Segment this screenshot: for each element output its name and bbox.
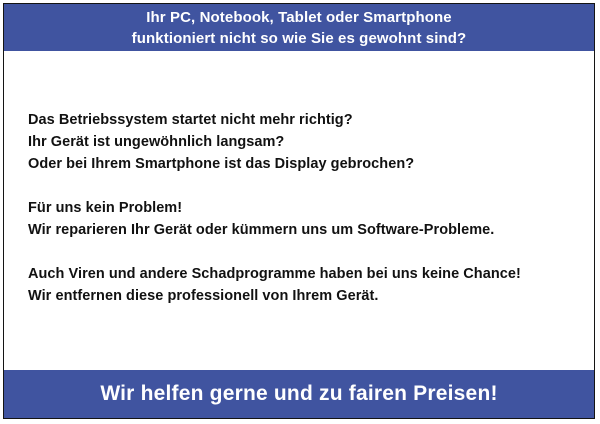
footer-tagline: Wir helfen gerne und zu fairen Preisen! <box>100 381 497 407</box>
service-flyer-card: Ihr PC, Notebook, Tablet oder Smartphone… <box>3 3 595 419</box>
solution-line-2: Wir reparieren Ihr Gerät oder kümmern un… <box>28 219 582 241</box>
footer-banner: Wir helfen gerne und zu fairen Preisen! <box>4 370 594 418</box>
problems-line-2: Ihr Gerät ist ungewöhnlich langsam? <box>28 131 582 153</box>
header-headline-line-1: Ihr PC, Notebook, Tablet oder Smartphone <box>146 7 451 28</box>
paragraph-problems: Das Betriebssystem startet nicht mehr ri… <box>28 109 582 175</box>
malware-line-2: Wir entfernen diese professionell von Ih… <box>28 285 582 307</box>
paragraph-malware: Auch Viren und andere Schadprogramme hab… <box>28 263 582 307</box>
paragraph-stack: Das Betriebssystem startet nicht mehr ri… <box>28 109 582 307</box>
malware-line-1: Auch Viren und andere Schadprogramme hab… <box>28 263 582 285</box>
header-banner: Ihr PC, Notebook, Tablet oder Smartphone… <box>4 4 594 51</box>
header-headline-line-2: funktioniert nicht so wie Sie es gewohnt… <box>132 28 467 49</box>
problems-line-1: Das Betriebssystem startet nicht mehr ri… <box>28 109 582 131</box>
paragraph-solution: Für uns kein Problem! Wir reparieren Ihr… <box>28 197 582 241</box>
solution-line-1: Für uns kein Problem! <box>28 197 582 219</box>
body-content-area: Das Betriebssystem startet nicht mehr ri… <box>4 51 594 370</box>
problems-line-3: Oder bei Ihrem Smartphone ist das Displa… <box>28 153 582 175</box>
